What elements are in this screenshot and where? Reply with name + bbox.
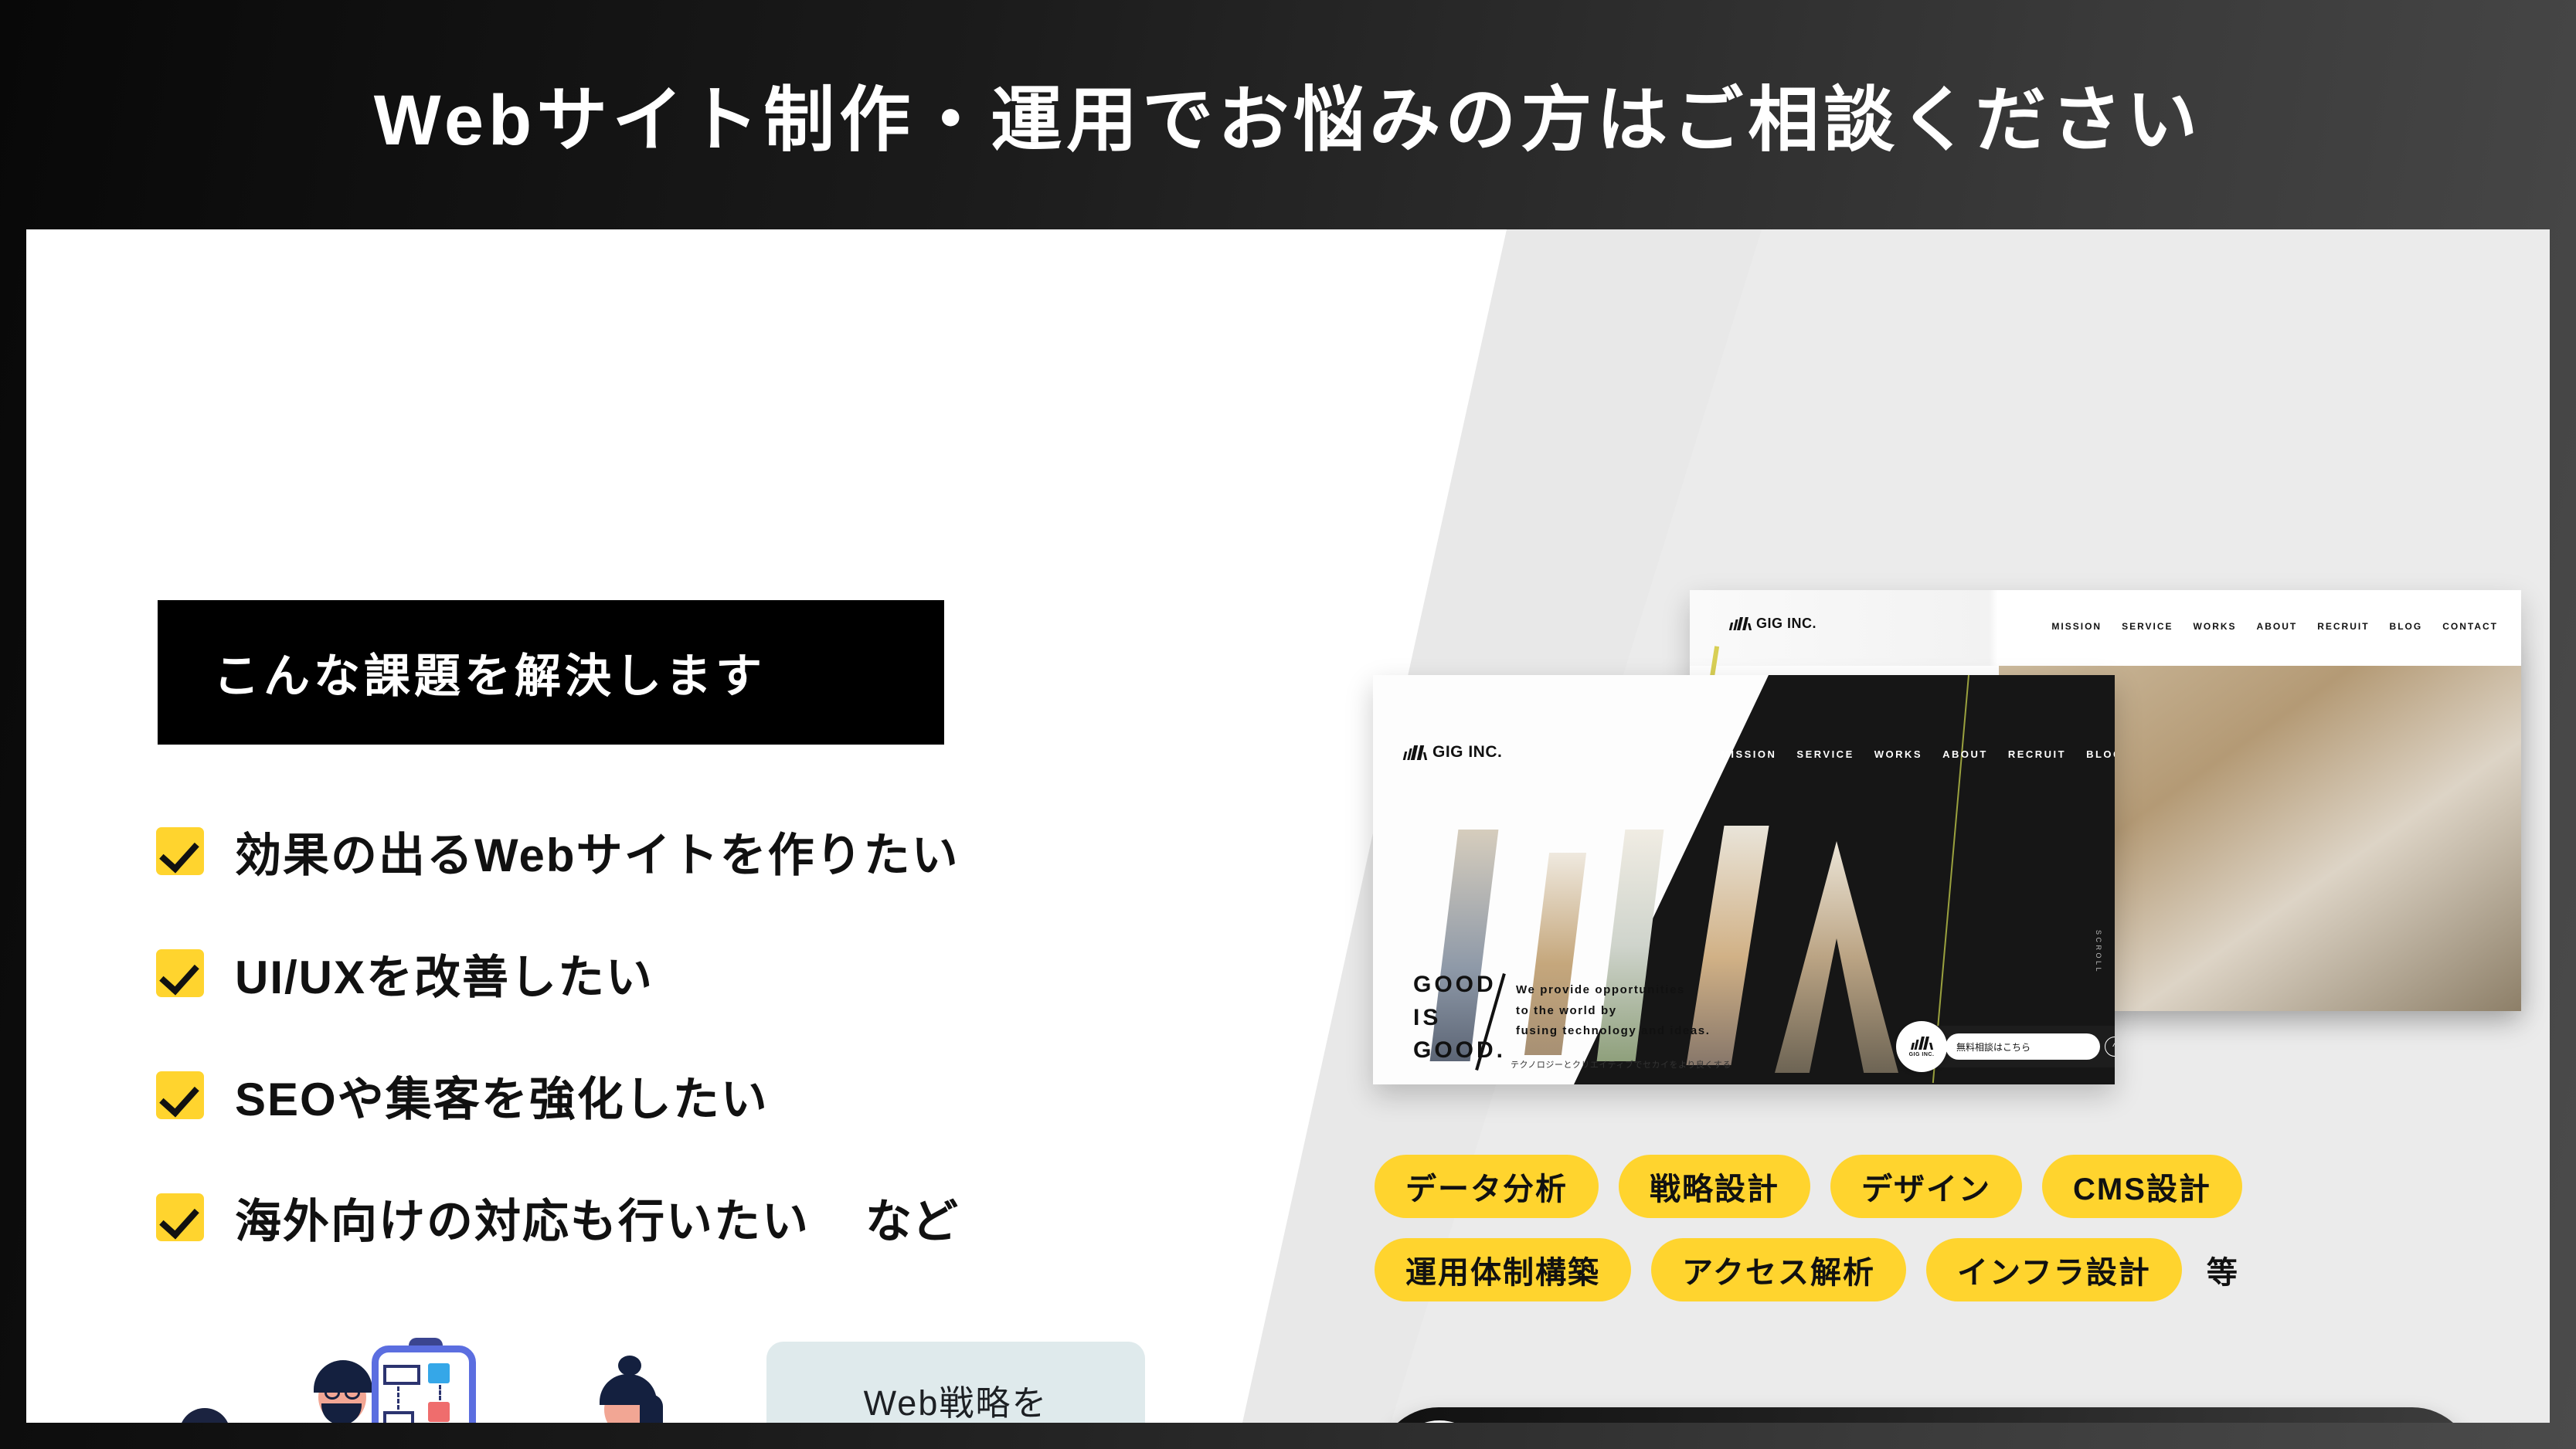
nav-item-works[interactable]: WORKS	[2194, 621, 2237, 632]
gig-logo-text: GIG INC.	[1432, 743, 1502, 762]
tag-operations-structure[interactable]: 運用体制構築	[1375, 1238, 1631, 1301]
nav-item-about[interactable]: ABOUT	[2257, 621, 2298, 632]
nav-item-mission[interactable]: MISSION	[2051, 621, 2102, 632]
service-tags: データ分析 戦略設計 デザイン CMS設計 運用体制構築 アクセス解析 インフラ…	[1375, 1155, 2534, 1322]
gig-logo-icon: GIG INC.	[1730, 616, 1816, 632]
nav-item-about[interactable]: ABOUT	[1942, 748, 1988, 760]
chat-widget-label[interactable]: 無料相談はこちら	[1946, 1033, 2100, 1060]
nav-item-mission[interactable]: MISSION	[1721, 748, 1776, 760]
check-icon	[156, 1071, 204, 1119]
tagline-line-3: GOOD.	[1413, 1034, 1506, 1067]
nav-item-recruit[interactable]: RECRUIT	[2008, 748, 2066, 760]
mockup-home-page: SCROLL GIG INC. MISSION SERVICE WORKS AB…	[1373, 675, 2115, 1084]
list-item: SEOや集客を強化したい	[156, 1053, 1315, 1138]
section-badge-label: こんな課題を解決します	[213, 639, 766, 706]
check-icon	[156, 949, 204, 997]
home-statement-jp: テクノロジーとクリエイティブでセカイをより良くする	[1511, 1058, 1731, 1071]
list-item: 効果の出るWebサイトを作りたい	[156, 809, 1315, 894]
check-icon	[156, 827, 204, 875]
scroll-label: SCROLL	[2095, 930, 2102, 974]
tag-strategy-design[interactable]: 戦略設計	[1619, 1155, 1810, 1218]
gig-logo-icon: GIG INC.	[1404, 743, 1502, 762]
statement-line-2: to the world by	[1516, 1001, 1711, 1021]
header-band: Webサイト制作・運用でお悩みの方はご相談ください	[0, 0, 2576, 228]
gig-logo-icon: GIG INC.	[1391, 1420, 1488, 1423]
list-item-label: 海外向けの対応も行いたい	[235, 1184, 810, 1251]
list-item: UI/UXを改善したい	[156, 931, 1315, 1016]
statement-line-1: We provide opportunities	[1516, 980, 1711, 1000]
tag-design[interactable]: デザイン	[1830, 1155, 2022, 1218]
list-item-suffix: など	[865, 1184, 958, 1251]
tag-row-2: 運用体制構築 アクセス解析 インフラ設計 等	[1375, 1238, 2534, 1301]
tag-etc-label: 等	[2207, 1247, 2238, 1292]
cta-button[interactable]: GIG INC. 無料相談/お問い合わせはこちら	[1377, 1407, 2474, 1423]
tag-cms-design[interactable]: CMS設計	[2042, 1155, 2242, 1218]
gig-logo-text: GIG INC.	[1909, 1052, 1935, 1057]
nav-item-service[interactable]: SERVICE	[1796, 748, 1854, 760]
home-statement: We provide opportunities to the world by…	[1516, 980, 1711, 1041]
list-item-label: UI/UXを改善したい	[235, 940, 654, 1007]
nav-item-works[interactable]: WORKS	[1874, 748, 1922, 760]
content-card: こんな課題を解決します 効果の出るWebサイトを作りたい UI/UXを改善したい…	[26, 229, 2550, 1423]
check-icon	[156, 1193, 204, 1241]
statement-line-3: fusing technology and ideas.	[1516, 1021, 1711, 1041]
section-badge: こんな課題を解決します	[158, 600, 944, 745]
chat-widget[interactable]: GIG INC. 無料相談はこちら ^	[1901, 1026, 2115, 1067]
tag-infrastructure-design[interactable]: インフラ設計	[1926, 1238, 2182, 1301]
tag-row-1: データ分析 戦略設計 デザイン CMS設計	[1375, 1155, 2534, 1218]
home-nav[interactable]: MISSION SERVICE WORKS ABOUT RECRUIT BLOG…	[1721, 748, 2115, 760]
page-title: Webサイト制作・運用でお悩みの方はご相談ください	[374, 63, 2203, 165]
team-illustration	[142, 1303, 753, 1423]
list-item-label: 効果の出るWebサイトを作りたい	[235, 818, 960, 885]
speech-bubble: Web戦略を 総合的に ご支援します	[766, 1342, 1145, 1423]
checklist: 効果の出るWebサイトを作りたい UI/UXを改善したい SEOや集客を強化した…	[156, 809, 1315, 1297]
gig-logo-text: GIG INC.	[1756, 616, 1816, 632]
chevron-up-icon[interactable]: ^	[2105, 1037, 2115, 1057]
nav-item-blog[interactable]: BLOG	[2086, 748, 2115, 760]
bubble-line-1: Web戦略を	[766, 1379, 1145, 1423]
nav-item-contact[interactable]: CONTACT	[2442, 621, 2498, 632]
about-header: GIG INC. MISSION SERVICE WORKS ABOUT REC…	[1690, 590, 2521, 666]
nav-item-service[interactable]: SERVICE	[2122, 621, 2173, 632]
about-nav[interactable]: MISSION SERVICE WORKS ABOUT RECRUIT BLOG…	[2051, 621, 2498, 632]
tag-access-analysis[interactable]: アクセス解析	[1651, 1238, 1906, 1301]
tag-data-analysis[interactable]: データ分析	[1375, 1155, 1599, 1218]
list-item-label: SEOや集客を強化したい	[235, 1062, 769, 1129]
gig-logo-icon: GIG INC.	[1896, 1021, 1947, 1072]
poster-root: Webサイト制作・運用でお悩みの方はご相談ください こんな課題を解決します 効果…	[0, 0, 2576, 1449]
list-item: 海外向けの対応も行いたい など	[156, 1175, 1315, 1260]
nav-item-blog[interactable]: BLOG	[2390, 621, 2423, 632]
nav-item-recruit[interactable]: RECRUIT	[2317, 621, 2369, 632]
tagline-line-1: GOOD	[1413, 969, 1506, 1002]
